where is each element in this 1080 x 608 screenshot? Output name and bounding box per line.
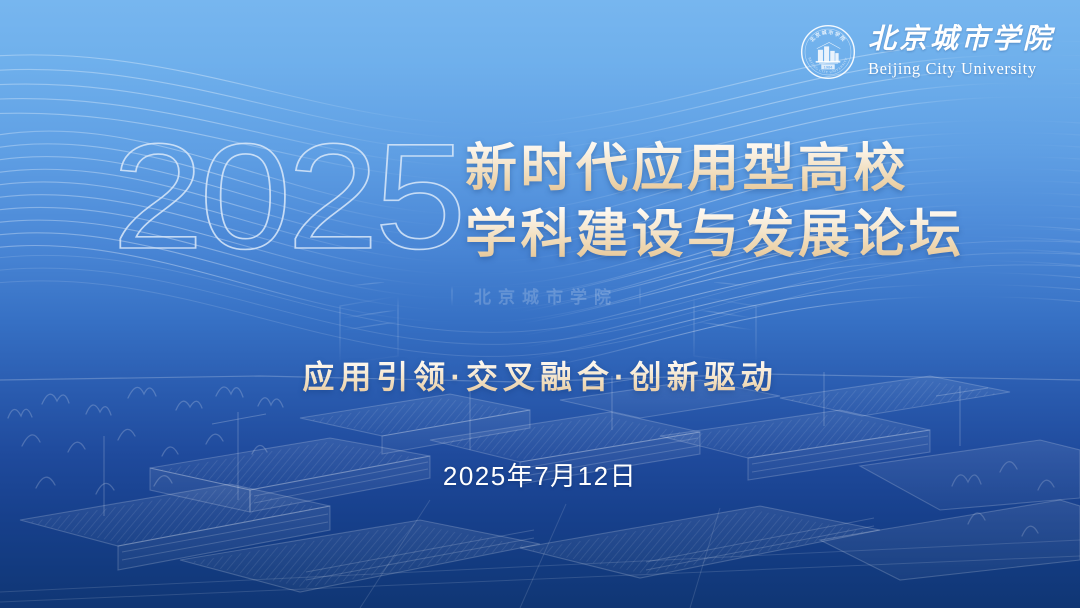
flowing-wave-lines [0,0,1080,608]
year-display: 2025 [112,136,462,262]
forum-title-line-1: 新时代应用型高校 [465,136,965,202]
seal-arc-cn: 北京城市学院 [808,29,847,44]
campus-blueprint-watermark [0,0,1080,608]
university-seal-icon: 1984 北京城市学院 BEIJING CITY UNIVERSITY [800,24,856,80]
year-2025-outline: 2025 [112,136,462,262]
facade-sign-text: 北京城市学院 [474,287,618,307]
forum-title: 新时代应用型高校 学科建设与发展论坛 [465,136,965,268]
forum-date: 2025年7月12日 [0,456,1080,493]
forum-slogan: 应用引领·交叉融合·创新驱动 [0,352,1080,398]
university-name-cn: 北京城市学院 [868,26,1054,54]
forum-title-line-2: 学科建设与发展论坛 [465,202,965,268]
university-logo: 1984 北京城市学院 BEIJING CITY UNIVERSITY 北京城市… [800,24,1054,80]
university-name-en: Beijing City University [868,61,1037,78]
seal-year-text: 1984 [824,64,834,69]
building-facade-watermark: 北京城市学院 [0,0,1080,608]
year-text: 2025 [112,136,462,262]
conference-poster: 北京城市学院 1984 北京城市学院 [0,0,1080,608]
university-name-block: 北京城市学院 Beijing City University [868,26,1054,78]
